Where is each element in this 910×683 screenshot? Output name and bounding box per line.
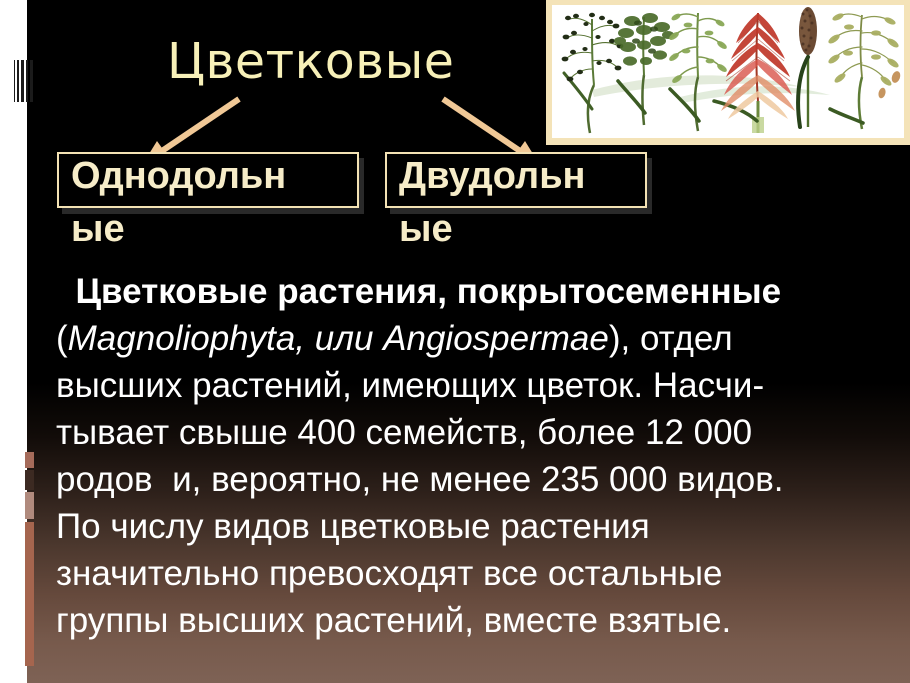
body-run-6-1: По числу видов цветковые растения — [56, 507, 650, 546]
body-run-2-1: ( — [56, 319, 68, 358]
illustration-canvas — [552, 5, 904, 138]
slide-root: Цветковые Однодольн ые Двудольн ые Цветк — [0, 0, 910, 683]
body-line-3: высших растений, имеющих цветок. Насчи- — [56, 362, 910, 409]
body-line-1: Цветковые растения, покрытосеменные — [56, 268, 910, 315]
left-gutter — [0, 0, 27, 683]
body-run-8-1: группы высших растений, вместе взятые. — [56, 601, 731, 640]
body-run-2-2: Magnoliophyta, или Angiospermae — [68, 319, 609, 358]
body-run-5-1: родов и, вероятно, не менее 235 000 видо… — [56, 460, 784, 499]
body-line-7: значительно превосходят все остальные — [56, 550, 910, 597]
scrollbar-segment-top[interactable] — [25, 452, 34, 468]
body-run-4-1: тывает свыше 400 семейств, более 12 000 — [56, 413, 752, 452]
scrollbar-segment-dark[interactable] — [25, 470, 34, 490]
scrollbar-segment-light[interactable] — [25, 492, 34, 519]
body-line-6: По числу видов цветковые растения — [56, 503, 910, 550]
illustration-frame — [546, 0, 910, 145]
body-line-4: тывает свыше 400 семейств, более 12 000 — [56, 409, 910, 456]
category-box-monocots[interactable]: Однодольн ые — [57, 152, 359, 208]
scrollbar-thumb[interactable] — [25, 522, 34, 666]
body-run-1-1: Цветковые растения, покрытосеменные — [56, 272, 781, 311]
body-run-2-3: ), отдел — [609, 319, 733, 358]
category-box-dicots[interactable]: Двудольн ые — [385, 152, 647, 208]
body-paragraph: Цветковые растения, покрытосеменные(Magn… — [56, 268, 910, 644]
body-line-2: (Magnoliophyta, или Angiospermae), отдел — [56, 315, 910, 362]
barcode-marks-icon — [14, 60, 34, 102]
category-label-dicots: Двудольн — [399, 157, 586, 195]
body-line-8: группы высших растений, вместе взятые. — [56, 597, 910, 644]
grass-inflorescences-illustration — [552, 5, 904, 138]
page-title: Цветковые — [167, 33, 454, 90]
category-overflow-dicots: ые — [399, 210, 453, 248]
body-run-3-1: высших растений, имеющих цветок. Насчи- — [56, 366, 764, 405]
category-overflow-monocots: ые — [71, 210, 125, 248]
body-line-5: родов и, вероятно, не менее 235 000 видо… — [56, 456, 910, 503]
body-run-7-1: значительно превосходят все остальные — [56, 554, 723, 593]
vertical-scrollbar[interactable] — [25, 452, 34, 666]
category-label-monocots: Однодольн — [71, 157, 286, 195]
